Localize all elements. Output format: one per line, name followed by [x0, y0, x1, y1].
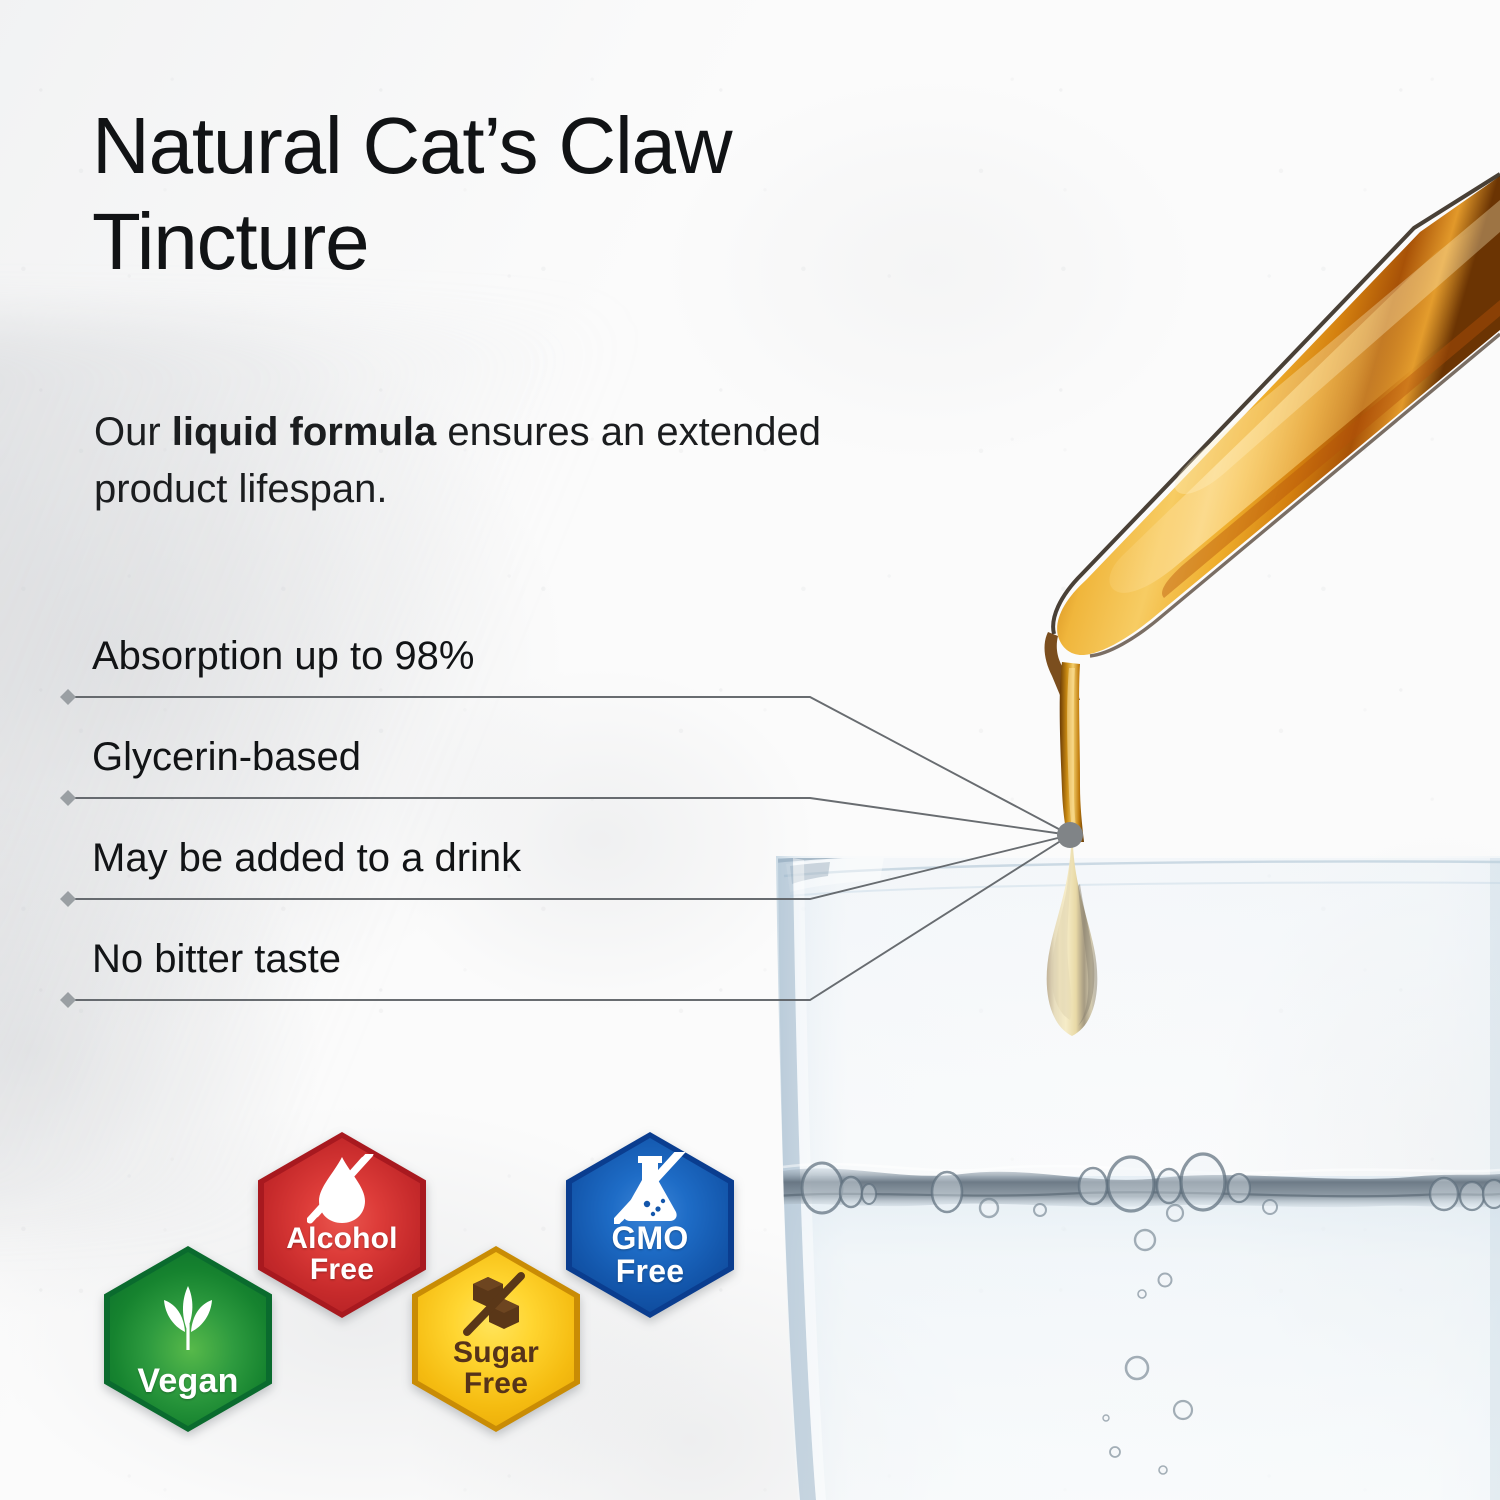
- flask-slash-icon: [566, 1152, 734, 1224]
- badge-gmo: GMO Free: [566, 1132, 734, 1318]
- subtitle-emphasis: liquid formula: [172, 410, 436, 454]
- badge-gmo-label: GMO Free: [566, 1222, 734, 1287]
- leader-marker-2: [60, 790, 76, 806]
- leader-marker-4: [60, 992, 76, 1008]
- page-title: Natural Cat’s Claw Tincture: [92, 98, 1132, 290]
- badge-sugar-label: Sugar Free: [412, 1338, 580, 1399]
- badge-vegan: Vegan: [104, 1246, 272, 1432]
- badge-alcohol: Alcohol Free: [258, 1132, 426, 1318]
- badge-alcohol-label: Alcohol Free: [258, 1224, 426, 1285]
- glass-of-water: [776, 847, 1500, 1500]
- droplet-slash-icon: [258, 1154, 426, 1226]
- certification-badges: VeganAlcohol FreeSugar FreeGMO Free: [104, 1128, 804, 1428]
- leaf-icon: [104, 1282, 272, 1352]
- callout-focus-dot: [1057, 822, 1083, 848]
- feature-label-3: May be added to a drink: [92, 838, 521, 878]
- leader-line-2: [68, 798, 1070, 835]
- subtitle-prefix: Our: [94, 410, 172, 454]
- feature-label-4: No bitter taste: [92, 939, 341, 979]
- leader-marker-1: [60, 689, 76, 705]
- infographic-canvas: Natural Cat’s Claw Tincture Our liquid f…: [0, 0, 1500, 1500]
- badge-vegan-label: Vegan: [104, 1364, 272, 1399]
- feature-label-2: Glycerin-based: [92, 737, 361, 777]
- subtitle: Our liquid formula ensures an extended p…: [94, 404, 854, 518]
- feature-label-1: Absorption up to 98%: [92, 636, 474, 676]
- badge-sugar: Sugar Free: [412, 1246, 580, 1432]
- leader-marker-3: [60, 891, 76, 907]
- sugar-cubes-slash-icon: [412, 1272, 580, 1340]
